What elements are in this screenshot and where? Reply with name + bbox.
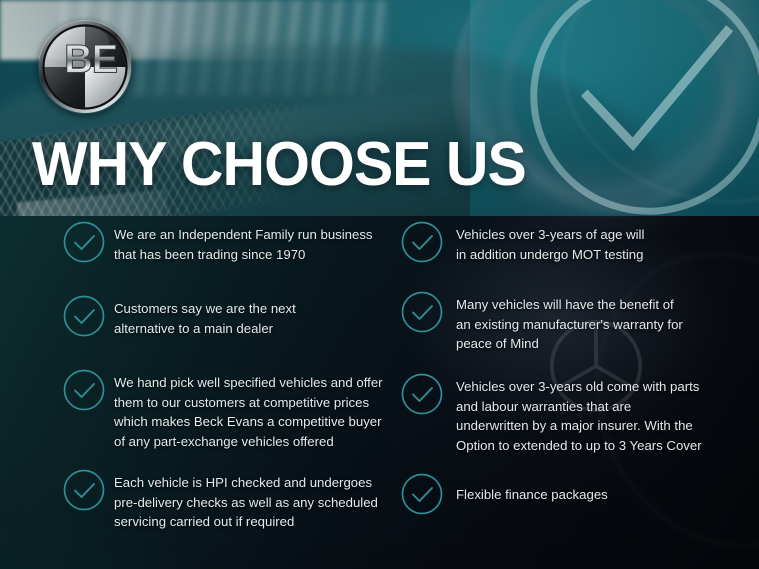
list-item: Many vehicles will have the benefit of a…: [400, 290, 683, 354]
check-circle-icon: [62, 468, 106, 512]
check-circle-icon: [62, 368, 106, 412]
list-item-text: Vehicles over 3-years of age will in add…: [456, 220, 644, 264]
list-item: Vehicles over 3-years of age will in add…: [400, 220, 644, 264]
why-choose-us-slide: BE WHY CHOOSE US We are an Independent F…: [0, 0, 759, 569]
check-circle-icon: [400, 290, 444, 334]
list-item-text: Vehicles over 3-years old come with part…: [456, 372, 702, 455]
list-item: Vehicles over 3-years old come with part…: [400, 372, 702, 455]
svg-text:BE: BE: [64, 38, 117, 82]
list-item: We hand pick well specified vehicles and…: [62, 368, 383, 451]
list-item: Flexible finance packages: [400, 472, 608, 516]
check-circle-icon: [62, 294, 106, 338]
list-item: Each vehicle is HPI checked and undergoe…: [62, 468, 378, 532]
check-circle-icon: [62, 220, 106, 264]
list-item: Customers say we are the next alternativ…: [62, 294, 296, 338]
list-item-text: We hand pick well specified vehicles and…: [114, 368, 383, 451]
check-circle-icon: [400, 372, 444, 416]
list-item-text: Customers say we are the next alternativ…: [114, 294, 296, 338]
list-item-text: Many vehicles will have the benefit of a…: [456, 290, 683, 354]
check-circle-icon: [400, 220, 444, 264]
list-item-text: Flexible finance packages: [456, 472, 608, 505]
list-item-text: We are an Independent Family run busines…: [114, 220, 373, 264]
check-circle-icon: [400, 472, 444, 516]
list-item: We are an Independent Family run busines…: [62, 220, 373, 264]
page-title: WHY CHOOSE US: [32, 134, 526, 196]
list-item-text: Each vehicle is HPI checked and undergoe…: [114, 468, 378, 532]
beck-evans-logo[interactable]: BE: [38, 20, 132, 114]
check-circle-watermark-icon: [515, 0, 759, 230]
